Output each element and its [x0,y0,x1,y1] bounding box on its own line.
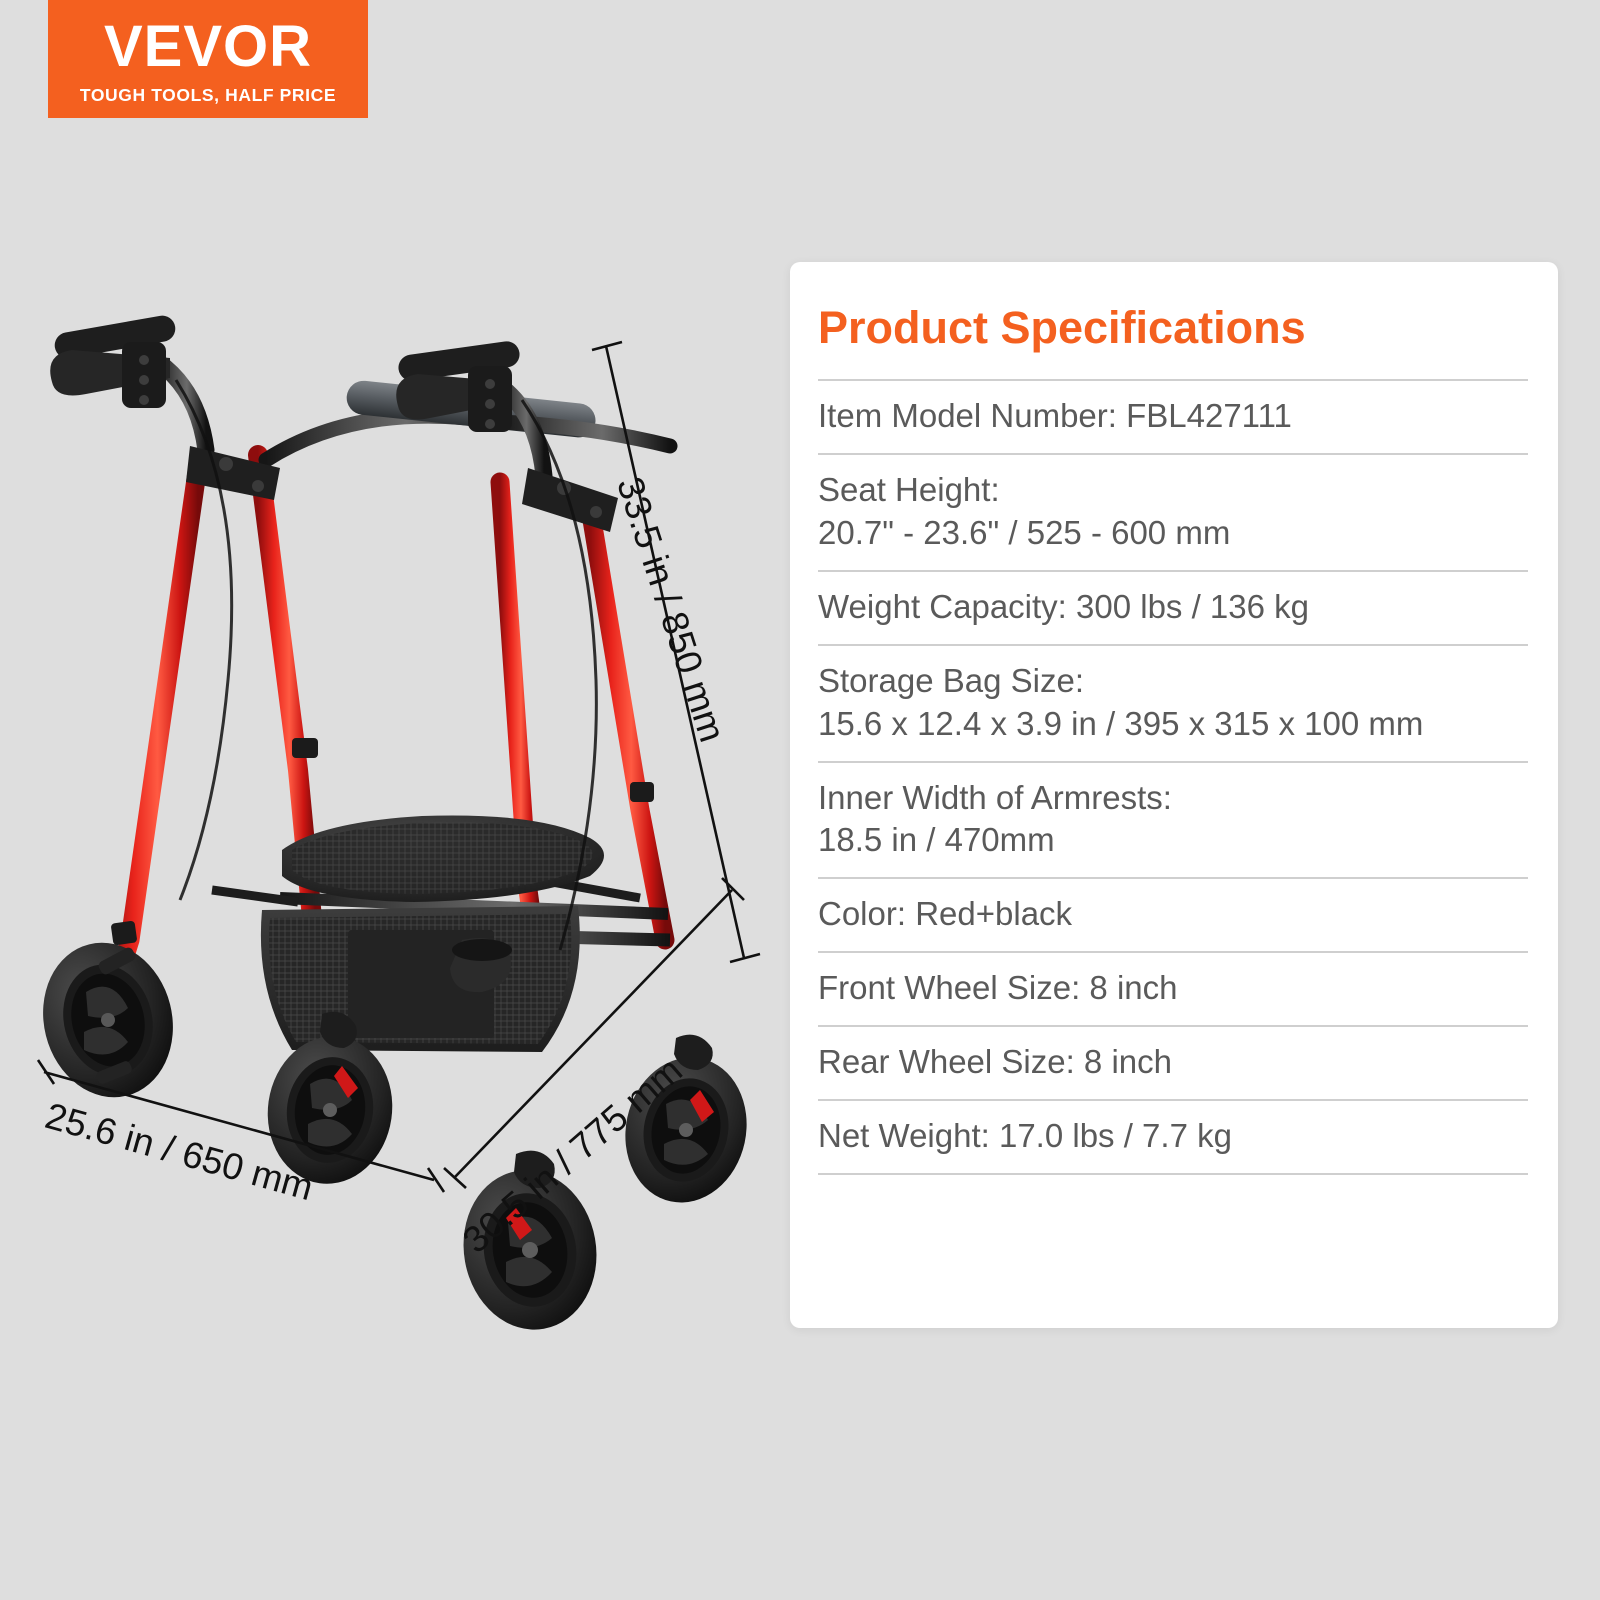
spec-row: Rear Wheel Size: 8 inch [818,1025,1528,1099]
spec-line-primary: Weight Capacity: 300 lbs / 136 kg [818,586,1528,629]
brand-wordmark: VEVOR [104,18,312,76]
spec-line-primary: Item Model Number: FBL427111 [818,395,1528,438]
spec-row: Color: Red+black [818,877,1528,951]
spec-line-primary: Seat Height: [818,469,1528,512]
spec-row: Weight Capacity: 300 lbs / 136 kg [818,570,1528,644]
product-image [30,250,770,1340]
product-specifications-panel: Product Specifications Item Model Number… [790,262,1558,1328]
spec-line-primary: Rear Wheel Size: 8 inch [818,1041,1528,1084]
spec-row: Inner Width of Armrests:18.5 in / 470mm [818,761,1528,878]
frame-upright-rear-left [108,465,198,1010]
spec-row: Front Wheel Size: 8 inch [818,951,1528,1025]
spec-line-primary: Net Weight: 17.0 lbs / 7.7 kg [818,1115,1528,1158]
spec-row: Storage Bag Size:15.6 x 12.4 x 3.9 in / … [818,644,1528,761]
handle-right [396,340,544,476]
rollator-walker-illustration [30,250,770,1340]
spec-line-secondary: 20.7" - 23.6" / 525 - 600 mm [818,512,1528,555]
specifications-list: Item Model Number: FBL427111Seat Height:… [818,379,1528,1175]
spec-row: Net Weight: 17.0 lbs / 7.7 kg [818,1099,1528,1175]
handle-left [50,314,206,450]
spec-line-primary: Inner Width of Armrests: [818,777,1528,820]
spec-line-secondary: 18.5 in / 470mm [818,819,1528,862]
spec-line-primary: Front Wheel Size: 8 inch [818,967,1528,1010]
spec-row: Seat Height:20.7" - 23.6" / 525 - 600 mm [818,453,1528,570]
spec-row: Item Model Number: FBL427111 [818,379,1528,453]
panel-title: Product Specifications [818,304,1528,351]
spec-line-primary: Color: Red+black [818,893,1528,936]
spec-line-primary: Storage Bag Size: [818,660,1528,703]
storage-bag [261,906,580,1052]
brand-logo: VEVOR TOUGH TOOLS, HALF PRICE [48,0,368,118]
seat-cushion [282,815,604,902]
brand-tagline: TOUGH TOOLS, HALF PRICE [80,85,336,106]
spec-line-secondary: 15.6 x 12.4 x 3.9 in / 395 x 315 x 100 m… [818,703,1528,746]
